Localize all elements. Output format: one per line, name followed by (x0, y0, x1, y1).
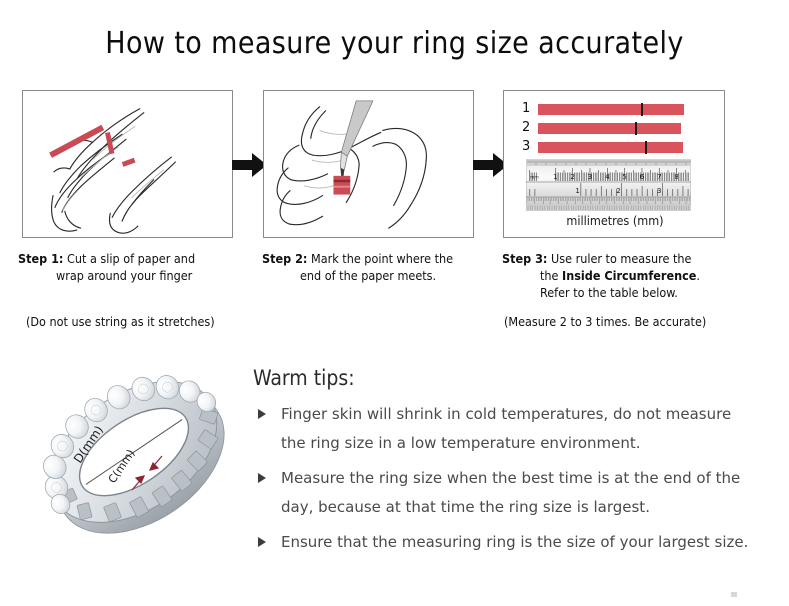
hand-with-paper-slip-icon (23, 91, 232, 237)
svg-text:6: 6 (640, 173, 645, 181)
step-1-illustration-panel (22, 90, 233, 238)
step-3-note: (Measure 2 to 3 times. Be accurate) (504, 314, 706, 329)
strip-mark-tick (635, 122, 637, 135)
step-3-label: Step 3: (502, 251, 547, 266)
step-3-illustration-panel: 1 2 3 (503, 90, 725, 238)
strip-row: 1 (522, 102, 684, 116)
svg-text:3: 3 (588, 173, 592, 181)
paper-band-shape (333, 176, 350, 195)
paper-strip-bar (538, 104, 684, 115)
strip-row: 3 (522, 140, 684, 154)
page-title: How to measure your ring size accurately (0, 26, 789, 61)
tip-text: Measure the ring size when the best time… (281, 469, 740, 516)
warm-tips-heading: Warm tips: (253, 366, 355, 390)
ruler-mm-unit-label: mm (530, 176, 539, 181)
eternity-ring-illustration-icon: D(mm) C(mm) (22, 352, 247, 567)
paper-strip-bar (538, 123, 681, 134)
step-3-line2-post: . (696, 268, 700, 283)
paper-slip-shape (49, 125, 135, 167)
step-1-note: (Do not use string as it stretches) (26, 314, 215, 329)
paper-strip-bar (538, 142, 683, 153)
step-3-caption: Step 3: Use ruler to measure the the Ins… (502, 250, 752, 301)
step-1-label: Step 1: (18, 251, 63, 266)
pen-shape (340, 101, 373, 178)
step-2-label: Step 2: (262, 251, 307, 266)
step-2-line2: end of the paper meets. (262, 267, 502, 284)
strip-number: 3 (522, 140, 538, 154)
step-3-emphasis: Inside Circumference (562, 268, 696, 283)
strip-row: 2 (522, 121, 684, 135)
strip-mark-tick (645, 141, 647, 154)
step-2-caption: Step 2: Mark the point where the end of … (262, 250, 502, 284)
svg-text:8: 8 (674, 173, 678, 181)
strip-mark-tick (641, 103, 643, 116)
svg-text:3: 3 (657, 187, 661, 195)
strip-number: 1 (522, 102, 538, 116)
step-2-illustration-panel (263, 90, 474, 238)
step-3-line2: the Inside Circumference. (502, 267, 752, 284)
ruler-caption: millimetres (mm) (504, 213, 725, 228)
svg-text:5: 5 (622, 173, 626, 181)
tip-item: Ensure that the measuring ring is the si… (253, 528, 753, 557)
step-3-line2-pre: the (540, 268, 562, 283)
tip-text: Ensure that the measuring ring is the si… (281, 533, 748, 551)
triangle-bullet-icon (258, 409, 266, 419)
hand-marking-paper-icon (264, 91, 473, 237)
svg-text:4: 4 (605, 173, 610, 181)
ruler-icon: 12345678 mm 123 (526, 159, 691, 211)
step-1-line1: Cut a slip of paper and (67, 251, 195, 266)
tip-text: Finger skin will shrink in cold temperat… (281, 405, 731, 452)
step-1-line2: wrap around your finger (18, 267, 258, 284)
measured-paper-strips: 1 2 3 (522, 102, 684, 159)
svg-text:7: 7 (657, 173, 661, 181)
warm-tips-list: Finger skin will shrink in cold temperat… (253, 400, 753, 563)
svg-text:2: 2 (570, 173, 574, 181)
triangle-bullet-icon (258, 473, 266, 483)
tip-item: Measure the ring size when the best time… (253, 464, 753, 522)
svg-text:2: 2 (616, 187, 620, 195)
step-3-line1: Use ruler to measure the (551, 251, 691, 266)
triangle-bullet-icon (258, 537, 266, 547)
svg-text:1: 1 (553, 173, 557, 181)
step-2-line1: Mark the point where the (311, 251, 453, 266)
tip-item: Finger skin will shrink in cold temperat… (253, 400, 753, 458)
ring-diagram: D(mm) C(mm) (22, 352, 247, 567)
step-1-caption: Step 1: Cut a slip of paper and wrap aro… (18, 250, 258, 284)
svg-text:1: 1 (575, 187, 579, 195)
corner-artifact (731, 592, 737, 597)
strip-number: 2 (522, 121, 538, 135)
step-3-line3: Refer to the table below. (502, 284, 752, 301)
